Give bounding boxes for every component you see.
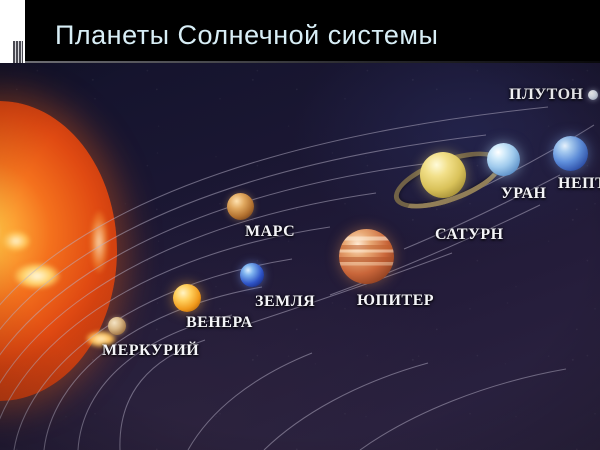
label-uranus: УРАН	[501, 185, 546, 203]
label-saturn: САТУРН	[435, 226, 504, 244]
planet-neptune	[553, 136, 588, 171]
label-mercury: МЕРКУРИЙ	[102, 342, 199, 360]
label-earth: ЗЕМЛЯ	[255, 293, 315, 311]
slide: Планеты Солнечной системы	[0, 0, 600, 450]
planet-uranus	[487, 143, 520, 176]
slide-header: Планеты Солнечной системы	[0, 0, 600, 63]
label-venus: ВЕНЕРА	[186, 314, 253, 332]
header-left-bar-glyph	[13, 41, 23, 63]
solar-system-image: МЕРКУРИЙ ВЕНЕРА ЗЕМЛЯ МАРС ЮПИТЕР САТУРН…	[0, 63, 600, 450]
planet-mercury	[108, 317, 126, 335]
orbit-lines	[0, 63, 600, 450]
label-neptune: НЕПТ	[558, 175, 600, 193]
planet-earth	[240, 263, 264, 287]
planet-pluto	[588, 90, 598, 100]
planet-mars	[227, 193, 254, 220]
label-mars: МАРС	[245, 223, 295, 241]
label-pluto: ПЛУТОН	[509, 86, 583, 104]
planet-venus	[173, 284, 201, 312]
planet-jupiter	[339, 229, 394, 284]
label-jupiter: ЮПИТЕР	[357, 292, 434, 310]
page-title: Планеты Солнечной системы	[55, 14, 585, 56]
